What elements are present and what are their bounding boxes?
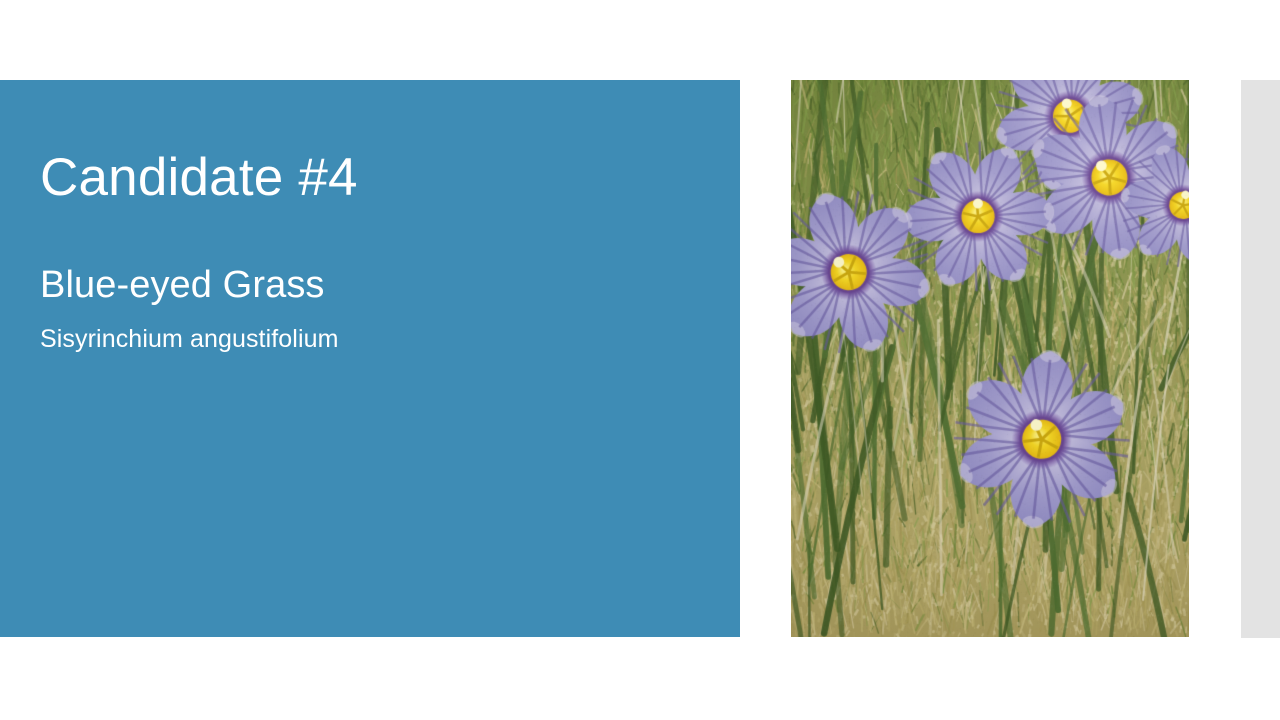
scientific-name-subtitle: Sisyrinchium angustifolium xyxy=(40,325,339,354)
flower-photo xyxy=(791,80,1189,637)
title-panel: Candidate #4 Blue-eyed Grass Sisyrinchiu… xyxy=(0,80,740,637)
page-title: Candidate #4 xyxy=(40,150,358,206)
flower-photo-canvas xyxy=(791,80,1189,637)
common-name-heading: Blue-eyed Grass xyxy=(40,265,325,307)
presentation-slide: Candidate #4 Blue-eyed Grass Sisyrinchiu… xyxy=(0,0,1280,720)
right-accent-block xyxy=(1241,80,1280,638)
